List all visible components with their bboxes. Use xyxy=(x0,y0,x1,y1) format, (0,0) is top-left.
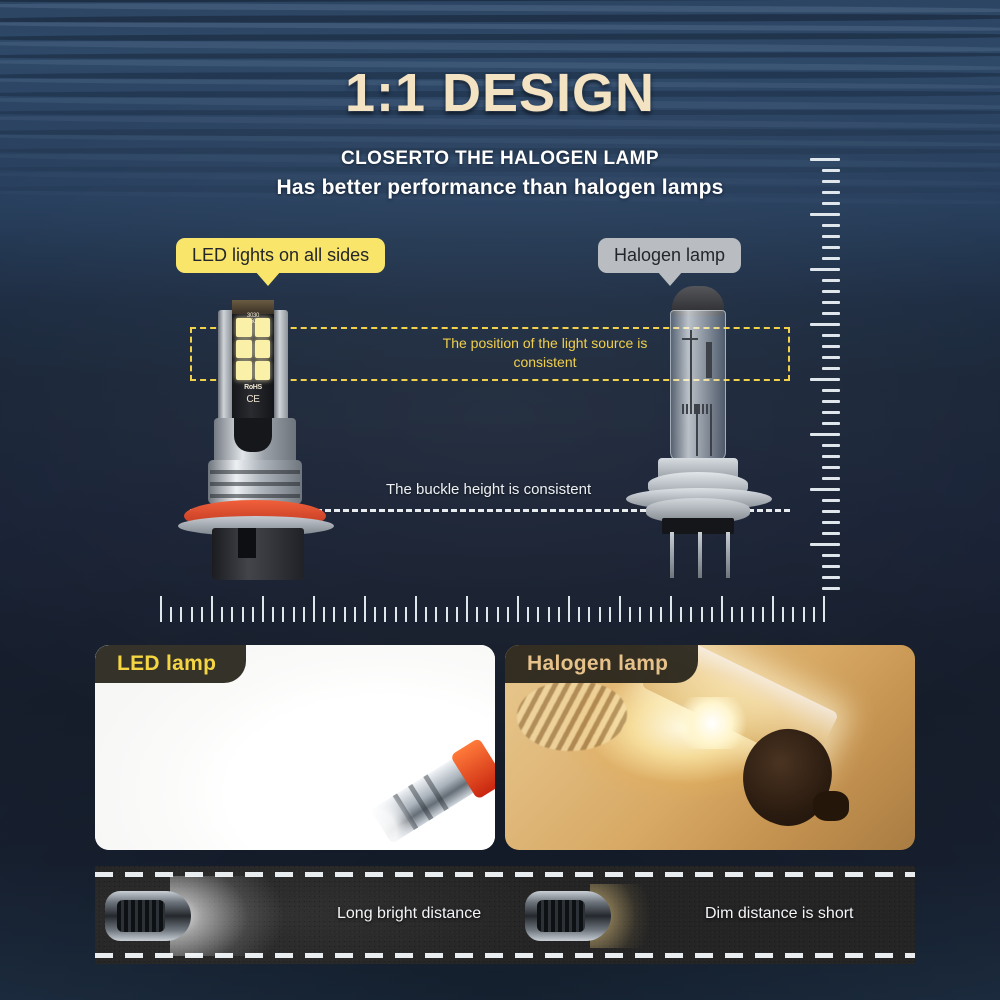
ruler-tick xyxy=(670,596,672,622)
ruler-tick xyxy=(578,607,580,622)
led-chip xyxy=(236,340,252,359)
callout-led-label: LED lights on all sides xyxy=(192,245,369,265)
card-tab-halogen-label: Halogen lamp xyxy=(527,652,668,676)
ruler-tick xyxy=(303,607,305,622)
ruler-tick xyxy=(160,596,162,622)
ruler-tick xyxy=(201,607,203,622)
ruler-tick xyxy=(822,576,840,579)
callout-tail-icon xyxy=(255,271,281,286)
ruler-tick xyxy=(415,596,417,622)
ruler-tick xyxy=(446,607,448,622)
halogen-filament-wire xyxy=(690,330,692,406)
ruler-tick xyxy=(527,607,529,622)
led-pcb-top-strip xyxy=(232,300,274,314)
card-tab-halogen: Halogen lamp xyxy=(505,645,698,683)
ruler-tick xyxy=(231,607,233,622)
led-rib xyxy=(210,482,300,486)
ruler-tick xyxy=(822,191,840,194)
ruler-tick xyxy=(619,596,621,622)
buckle-height-note: The buckle height is consistent xyxy=(386,481,591,498)
page-title: 1:1 DESIGN xyxy=(0,62,1000,124)
ruler-tick xyxy=(822,466,840,469)
ruler-tick xyxy=(810,433,840,436)
ruler-tick xyxy=(741,607,743,622)
halogen-pin xyxy=(726,532,730,578)
halogen-pin xyxy=(698,532,702,578)
ruler-tick xyxy=(822,235,840,238)
ruler-tick xyxy=(242,607,244,622)
ruler-tick xyxy=(822,411,840,414)
ruler-tick xyxy=(822,301,840,304)
ruler-tick xyxy=(548,607,550,622)
ruler-tick xyxy=(711,607,713,622)
card-tab-led: LED lamp xyxy=(95,645,246,683)
ruler-tick xyxy=(822,499,840,502)
ruler-tick xyxy=(374,607,376,622)
ruler-tick xyxy=(701,607,703,622)
ruler-tick xyxy=(313,596,315,622)
led-chip xyxy=(255,318,271,337)
ruler-tick xyxy=(822,367,840,370)
ruler-tick xyxy=(588,607,590,622)
ruler-tick xyxy=(333,607,335,622)
ruler-tick xyxy=(822,356,840,359)
halogen-filament-wire xyxy=(710,412,712,456)
ruler-tick xyxy=(752,607,754,622)
ruler-tick xyxy=(384,607,386,622)
led-chip xyxy=(236,361,252,380)
subtitle-secondary: Has better performance than halogen lamp… xyxy=(0,176,1000,200)
ruler-tick xyxy=(822,510,840,513)
ruler-tick xyxy=(822,400,840,403)
vertical-ruler xyxy=(806,158,840,590)
ruler-tick xyxy=(293,607,295,622)
ruler-tick xyxy=(822,455,840,458)
road-label-led: Long bright distance xyxy=(337,905,481,923)
ruler-tick xyxy=(822,202,840,205)
ruler-tick xyxy=(731,607,733,622)
car-roof-detail xyxy=(537,900,585,932)
ruler-tick xyxy=(405,607,407,622)
led-heatsink-left xyxy=(218,310,232,428)
ruler-tick xyxy=(282,607,284,622)
ruler-tick xyxy=(629,607,631,622)
subtitle-primary: CLOSERTO THE HALOGEN LAMP xyxy=(0,148,1000,170)
ruler-tick xyxy=(822,444,840,447)
ruler-tick xyxy=(221,607,223,622)
ruler-tick xyxy=(810,158,840,161)
car-led-topview xyxy=(105,891,191,941)
ruler-tick xyxy=(425,607,427,622)
ruler-tick xyxy=(272,607,274,622)
ruler-tick xyxy=(822,279,840,282)
callout-tail-icon xyxy=(657,271,683,286)
ruler-tick xyxy=(822,389,840,392)
halogen-filament-wire xyxy=(682,338,698,340)
led-connector-base xyxy=(212,528,304,580)
ruler-tick xyxy=(822,565,840,568)
halogen-pin xyxy=(670,532,674,578)
led-chip xyxy=(255,361,271,380)
ruler-tick xyxy=(772,596,774,622)
led-ce-mark: CE xyxy=(232,394,274,405)
halogen-filament-shield xyxy=(706,342,712,378)
led-chip xyxy=(255,340,271,359)
ruler-tick xyxy=(507,607,509,622)
horizontal-ruler xyxy=(160,592,836,622)
ruler-tick xyxy=(823,596,825,622)
ruler-tick xyxy=(180,607,182,622)
led-bulb-illustration: 3030 1750Ml RoHS CE xyxy=(178,300,368,580)
ruler-tick xyxy=(822,334,840,337)
ruler-tick xyxy=(639,607,641,622)
halogen-photo-nub xyxy=(813,791,849,821)
ruler-tick xyxy=(211,596,213,622)
led-heatsink-right xyxy=(274,310,288,428)
led-chip xyxy=(236,318,252,337)
ruler-tick xyxy=(762,607,764,622)
ruler-tick xyxy=(822,180,840,183)
ruler-tick xyxy=(792,607,794,622)
ruler-tick xyxy=(803,607,805,622)
ruler-tick xyxy=(660,607,662,622)
ruler-tick xyxy=(822,224,840,227)
ruler-tick xyxy=(822,554,840,557)
led-rib xyxy=(210,470,300,474)
halogen-lamp-photo-card: Halogen lamp xyxy=(505,645,915,850)
ruler-tick xyxy=(822,290,840,293)
ruler-tick xyxy=(344,607,346,622)
ruler-tick xyxy=(822,169,840,172)
ruler-tick xyxy=(517,596,519,622)
card-tab-led-label: LED lamp xyxy=(117,652,216,676)
ruler-tick xyxy=(558,607,560,622)
ruler-tick xyxy=(456,607,458,622)
ruler-tick xyxy=(721,596,723,622)
ruler-tick xyxy=(810,213,840,216)
ruler-tick xyxy=(252,607,254,622)
ruler-tick xyxy=(822,345,840,348)
ruler-tick xyxy=(822,521,840,524)
led-lamp-photo-card: LED lamp xyxy=(95,645,495,850)
ruler-tick xyxy=(599,607,601,622)
ruler-tick xyxy=(170,607,172,622)
led-chip-grid xyxy=(236,318,270,380)
ruler-tick xyxy=(680,607,682,622)
ruler-tick xyxy=(466,596,468,622)
ruler-tick xyxy=(782,607,784,622)
ruler-tick xyxy=(690,607,692,622)
halogen-bulb-illustration xyxy=(620,286,780,580)
halogen-glass-envelope xyxy=(670,310,726,462)
ruler-tick xyxy=(822,477,840,480)
ruler-tick xyxy=(497,607,499,622)
callout-led-lights: LED lights on all sides xyxy=(176,238,385,273)
car-halogen-topview xyxy=(525,891,611,941)
ruler-tick xyxy=(354,607,356,622)
ruler-tick xyxy=(364,596,366,622)
ruler-tick xyxy=(813,607,815,622)
ruler-tick xyxy=(435,607,437,622)
led-rib xyxy=(210,494,300,498)
halogen-filament-coil xyxy=(682,404,714,414)
ruler-tick xyxy=(609,607,611,622)
ruler-tick xyxy=(810,488,840,491)
ruler-tick xyxy=(537,607,539,622)
ruler-tick xyxy=(822,532,840,535)
led-neck-cutout xyxy=(234,418,272,452)
infographic-stage: 1:1 DESIGN CLOSERTO THE HALOGEN LAMP Has… xyxy=(0,0,1000,1000)
ruler-tick xyxy=(486,607,488,622)
ruler-tick xyxy=(810,268,840,271)
callout-halogen-label: Halogen lamp xyxy=(614,245,725,265)
halogen-photo-hotspot xyxy=(677,697,747,749)
ruler-tick xyxy=(822,587,840,590)
ruler-tick xyxy=(822,312,840,315)
ruler-tick xyxy=(650,607,652,622)
ruler-tick xyxy=(323,607,325,622)
road-label-halogen: Dim distance is short xyxy=(705,905,854,923)
ruler-tick xyxy=(568,596,570,622)
ruler-tick xyxy=(262,596,264,622)
ruler-tick xyxy=(822,257,840,260)
ruler-tick xyxy=(810,323,840,326)
ruler-tick xyxy=(476,607,478,622)
ruler-tick xyxy=(810,543,840,546)
ruler-tick xyxy=(822,422,840,425)
ruler-tick xyxy=(395,607,397,622)
led-rohs-mark: RoHS xyxy=(232,384,274,391)
car-roof-detail xyxy=(117,900,165,932)
callout-halogen-lamp: Halogen lamp xyxy=(598,238,741,273)
ruler-tick xyxy=(810,378,840,381)
ruler-tick xyxy=(822,246,840,249)
ruler-tick xyxy=(191,607,193,622)
led-connector-notch xyxy=(238,528,256,558)
